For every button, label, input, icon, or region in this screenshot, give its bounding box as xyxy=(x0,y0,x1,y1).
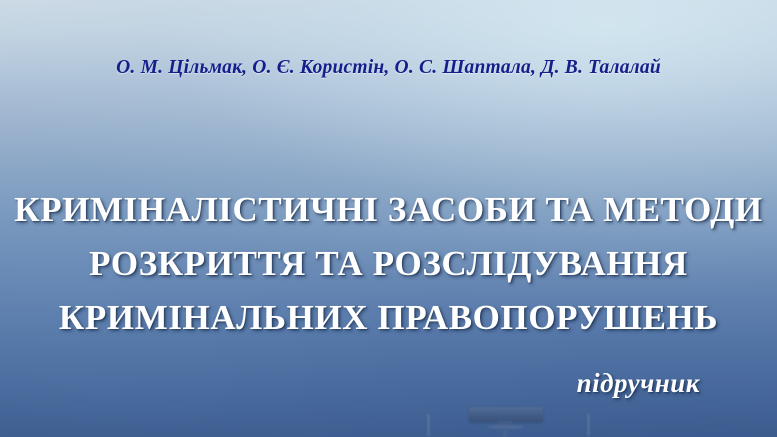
book-cover: О. М. Цільмак, О. Є. Користін, О. С. Шап… xyxy=(0,0,777,437)
subtitle-label: підручник xyxy=(0,368,700,399)
title-line-2: РОЗКРИТТЯ ТА РОЗСЛІДУВАННЯ xyxy=(0,237,777,291)
authors-line: О. М. Цільмак, О. Є. Користін, О. С. Шап… xyxy=(0,57,777,79)
title-line-3: КРИМІНАЛЬНИХ ПРАВОПОРУШЕНЬ xyxy=(0,291,777,345)
microscope-body xyxy=(469,407,543,422)
microscope-neck xyxy=(499,421,512,426)
title-line-1: КРИМІНАЛІСТИЧНІ ЗАСОБИ ТА МЕТОДИ xyxy=(0,183,777,237)
background-post-right xyxy=(587,414,590,436)
book-title: КРИМІНАЛІСТИЧНІ ЗАСОБИ ТА МЕТОДИ РОЗКРИТ… xyxy=(0,183,777,345)
background-post-left xyxy=(427,414,430,436)
microscope-silhouette-icon xyxy=(455,404,575,437)
microscope-base xyxy=(488,425,524,429)
microscope-stem xyxy=(503,428,507,437)
